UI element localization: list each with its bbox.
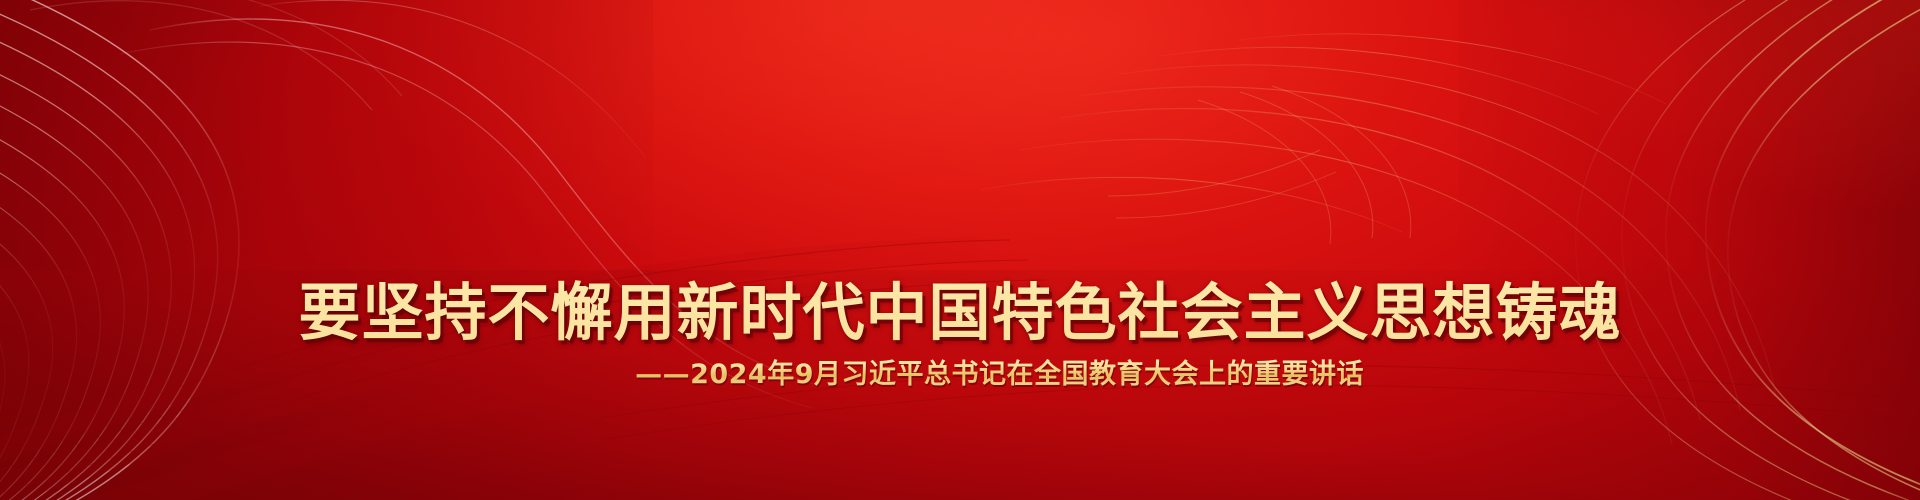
banner-content: 要坚持不懈用新时代中国特色社会主义思想铸魂 育人，实施新时代立德树人工程。 ——… xyxy=(0,0,1920,500)
headline: 要坚持不懈用新时代中国特色社会主义思想铸魂 育人，实施新时代立德树人工程。 xyxy=(0,112,1920,500)
attribution: ——2024年9月习近平总书记在全国教育大会上的重要讲话 xyxy=(0,352,1920,391)
red-banner: 要坚持不懈用新时代中国特色社会主义思想铸魂 育人，实施新时代立德树人工程。 ——… xyxy=(0,0,1920,500)
headline-line-1: 要坚持不懈用新时代中国特色社会主义思想铸魂 xyxy=(120,273,1800,354)
